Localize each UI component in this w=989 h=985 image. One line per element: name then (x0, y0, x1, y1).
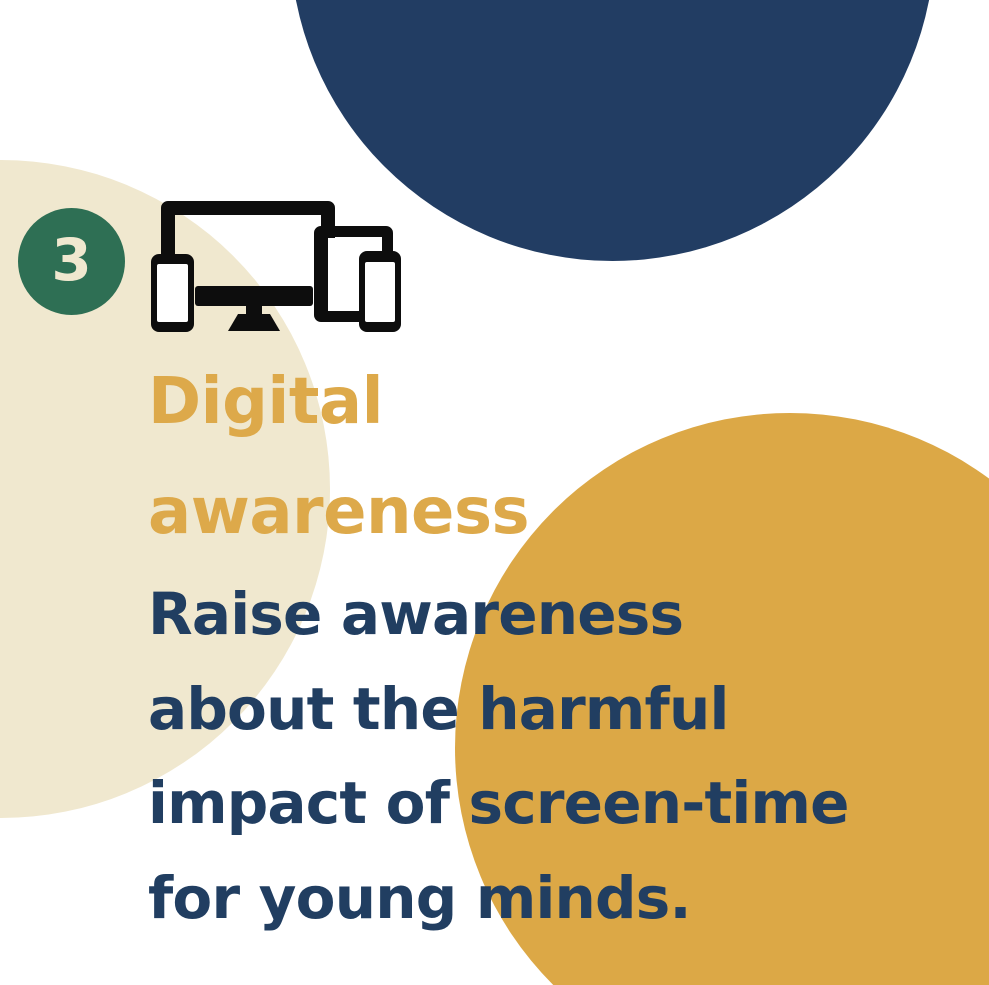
text-content: Digital awareness Raise awareness about … (148, 347, 978, 945)
step-number-badge: 3 (18, 208, 125, 315)
responsive-devices-icon (140, 190, 410, 335)
infographic-card: 3 (0, 0, 989, 985)
step-number-label: 3 (51, 231, 91, 289)
body-copy: Raise awareness about the harmful impact… (148, 567, 978, 945)
headline: Digital awareness (148, 347, 978, 567)
